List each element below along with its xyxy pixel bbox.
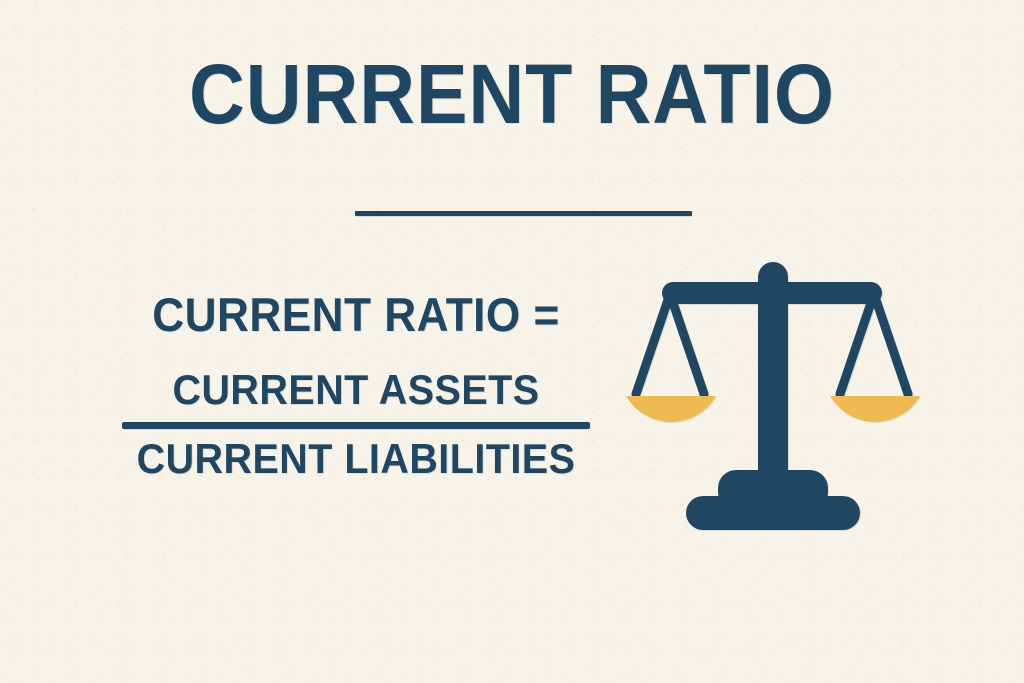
infographic-canvas: CURRENT RATIO CURRENT RATIO = CURRENT AS… [0, 0, 1024, 683]
page-title: CURRENT RATIO [41, 48, 983, 140]
fraction: CURRENT ASSETS CURRENT LIABILITIES [96, 366, 616, 483]
scale-pan-right [830, 396, 920, 422]
balance-scale-icon [612, 252, 952, 542]
title-divider [355, 211, 692, 216]
formula-block: CURRENT RATIO = CURRENT ASSETS CURRENT L… [96, 288, 616, 483]
scale-pan-left [626, 396, 716, 422]
fraction-denominator: CURRENT LIABILITIES [112, 435, 601, 483]
fraction-bar [122, 422, 590, 429]
fraction-numerator: CURRENT ASSETS [112, 366, 601, 414]
scale-strings-right [840, 294, 908, 394]
formula-left-hand-side: CURRENT RATIO = [112, 288, 601, 342]
scale-base-lower [686, 496, 860, 530]
scale-post [758, 262, 788, 502]
scale-strings-left [636, 294, 704, 394]
